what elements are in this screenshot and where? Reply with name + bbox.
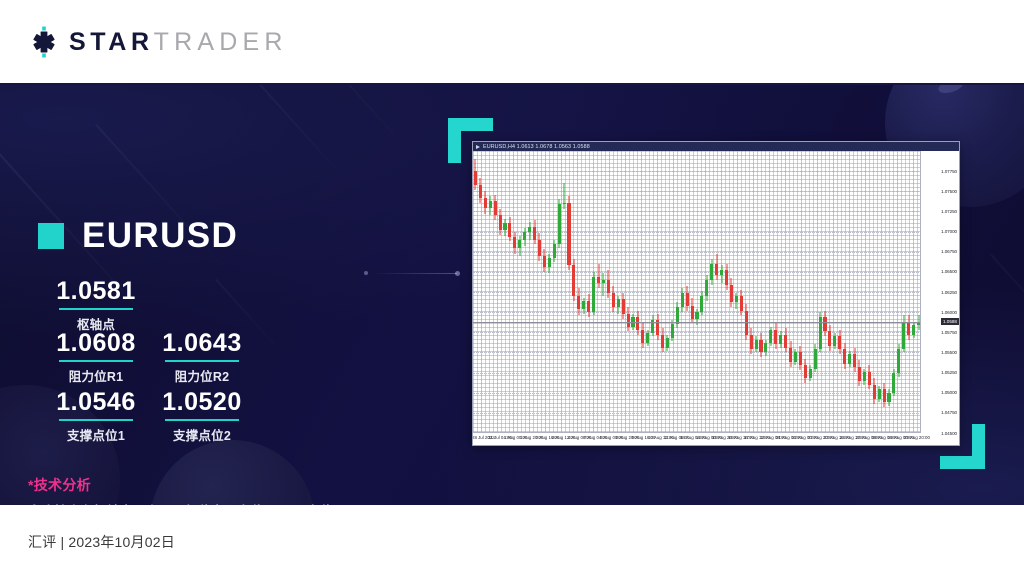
chart-plot-area[interactable] (473, 151, 921, 433)
candlestick-wick (603, 273, 604, 296)
candlestick (612, 151, 615, 433)
candlestick-body (799, 352, 802, 365)
candlestick (809, 151, 812, 433)
candlestick (636, 151, 639, 433)
decor-dot (364, 271, 368, 275)
candlestick-body (508, 223, 511, 238)
slide: STARTRADER EURUSD 1.0581 (0, 0, 1024, 576)
bracket-arm-vertical (448, 118, 461, 163)
candlestick-body (622, 299, 625, 314)
price-axis-tick: 1.07000 (941, 229, 957, 234)
price-axis-tick: 1.05750 (941, 330, 957, 335)
candlestick-body (863, 372, 866, 382)
candlestick-body (563, 203, 566, 205)
candlestick-body (887, 393, 890, 403)
candlestick (582, 151, 585, 433)
price-axis-tick: 1.05000 (941, 390, 957, 395)
candlestick-body (503, 223, 506, 230)
candlestick (740, 151, 743, 433)
candlestick-body (843, 349, 846, 364)
candlestick (759, 151, 762, 433)
candlestick-body (627, 314, 630, 327)
candlestick-body (764, 343, 767, 353)
stat-value: 1.0608 (36, 330, 156, 356)
candlestick (774, 151, 777, 433)
candlestick (750, 151, 753, 433)
candlestick-body (558, 204, 561, 243)
candlestick (804, 151, 807, 433)
candlestick (489, 151, 492, 433)
candlestick-body (784, 335, 787, 348)
candlestick (656, 151, 659, 433)
candlestick-body (533, 227, 536, 240)
candlestick-body (848, 354, 851, 364)
candlestick-body (671, 324, 674, 338)
candlestick (764, 151, 767, 433)
candlestick-body (686, 293, 689, 306)
candlestick-body (789, 348, 792, 363)
time-axis-tick: 29 Aug 20:00 (904, 435, 930, 440)
candlestick (863, 151, 866, 433)
candlestick (710, 151, 713, 433)
candlestick (607, 151, 610, 433)
candlestick-body (636, 317, 639, 330)
candlestick-body (750, 335, 753, 350)
candlestick-body (715, 264, 718, 275)
candlestick-body (878, 389, 881, 399)
candlestick (912, 151, 915, 433)
candlestick-body (494, 201, 497, 216)
stat-resistance-2: 1.0643 阻力位R2 (142, 330, 262, 385)
candlestick-body (582, 301, 585, 309)
candlestick (779, 151, 782, 433)
candlestick-body (794, 352, 797, 362)
candlestick (868, 151, 871, 433)
symbol-row: EURUSD (38, 218, 238, 253)
price-axis-tick: 1.04500 (941, 431, 957, 436)
page-title: EURUSD (82, 218, 238, 253)
candlestick-body (735, 296, 738, 302)
candlestick-body (691, 306, 694, 319)
price-axis[interactable]: 1.077501.075001.072501.070001.067501.065… (920, 151, 959, 433)
candlestick (853, 151, 856, 433)
candlestick-body (873, 385, 876, 400)
candlestick-body (700, 296, 703, 312)
candlestick-body (883, 389, 886, 402)
stat-support-2: 1.0520 支撑点位2 (142, 389, 262, 444)
candlestick-body (646, 333, 649, 343)
candlestick-body (592, 277, 595, 312)
candlestick (479, 151, 482, 433)
candlestick (799, 151, 802, 433)
candlestick-body (617, 299, 620, 307)
candlestick (548, 151, 551, 433)
decor-connector-line (372, 273, 457, 274)
candlestick-body (823, 317, 826, 332)
candlestick (715, 151, 718, 433)
candlestick (691, 151, 694, 433)
candlestick (695, 151, 698, 433)
candlestick (508, 151, 511, 433)
candlestick-body (602, 280, 605, 283)
chart-titlebar[interactable]: EURUSD,H4 1.0613 1.0678 1.0563 1.0588 (473, 142, 959, 151)
candlestick-body (479, 185, 482, 198)
candlestick (528, 151, 531, 433)
chart-symbol-label: EURUSD,H4 1.0613 1.0678 1.0563 1.0588 (483, 143, 590, 151)
candlestick (513, 151, 516, 433)
brand-wordmark: STARTRADER (69, 30, 288, 55)
stat-label: 阻力位R1 (36, 366, 156, 385)
candlestick (518, 151, 521, 433)
candlestick (823, 151, 826, 433)
candlestick (873, 151, 876, 433)
candlestick-body (666, 338, 669, 348)
current-price-label: 1.0588 (941, 318, 959, 325)
chart-body: 1.077501.075001.072501.070001.067501.065… (473, 151, 959, 445)
price-axis-tick: 1.05500 (941, 350, 957, 355)
candlestick-body (759, 340, 762, 353)
candlestick-body (489, 201, 492, 208)
candlestick-body (853, 354, 856, 367)
price-axis-tick: 1.06250 (941, 290, 957, 295)
candlestick (887, 151, 890, 433)
candlestick-body (774, 330, 777, 345)
candlestick (484, 151, 487, 433)
candlestick (681, 151, 684, 433)
candlestick-body (612, 293, 615, 308)
candlestick (602, 151, 605, 433)
candlestick-body (902, 322, 905, 349)
candlestick-body (710, 264, 713, 280)
price-axis-tick: 1.04750 (941, 410, 957, 415)
candlestick (858, 151, 861, 433)
candlestick (902, 151, 905, 433)
stat-underline (59, 360, 133, 362)
candlestick (592, 151, 595, 433)
candlestick-wick (564, 183, 565, 209)
candlestick-body (513, 237, 516, 248)
candlestick (563, 151, 566, 433)
candlestick-body (543, 256, 546, 267)
symbol-marker-icon (38, 223, 64, 249)
brand-logo: STARTRADER (28, 26, 288, 58)
mt4-chart-window[interactable]: EURUSD,H4 1.0613 1.0678 1.0563 1.0588 1.… (472, 141, 960, 446)
stat-support-1: 1.0546 支撑点位1 (36, 389, 156, 444)
candlestick (730, 151, 733, 433)
stat-underline (165, 360, 239, 362)
stat-value: 1.0643 (142, 330, 262, 356)
candlestick (553, 151, 556, 433)
candlestick (641, 151, 644, 433)
candlestick (745, 151, 748, 433)
candlestick-body (499, 215, 502, 230)
chevron-right-icon[interactable] (476, 145, 480, 149)
stat-label: 支撑点位1 (36, 425, 156, 444)
candlestick-body (828, 331, 831, 346)
candlestick (597, 151, 600, 433)
candlestick-body (720, 270, 723, 275)
candlestick (686, 151, 689, 433)
stat-pivot: 1.0581 枢轴点 (36, 278, 156, 333)
candlestick-body (661, 335, 664, 348)
candlestick (572, 151, 575, 433)
stat-value: 1.0546 (36, 389, 156, 415)
candlestick-body (518, 240, 521, 248)
candlestick-body (538, 240, 541, 256)
candlestick (883, 151, 886, 433)
price-axis-tick: 1.06000 (941, 310, 957, 315)
candlestick (720, 151, 723, 433)
candlestick-body (577, 296, 580, 309)
candlestick (661, 151, 664, 433)
candlestick (651, 151, 654, 433)
bracket-arm-vertical (972, 424, 985, 469)
footer-caption: 汇评 | 2023年10月02日 (28, 532, 175, 552)
candlestick-body (695, 312, 698, 318)
candlestick (843, 151, 846, 433)
candlestick (622, 151, 625, 433)
candlestick (700, 151, 703, 433)
candlestick-body (814, 349, 817, 368)
candlestick-body (907, 322, 910, 335)
candlestick-body (553, 244, 556, 259)
candlestick-series (473, 151, 921, 433)
candlestick-body (868, 372, 871, 385)
candlestick (735, 151, 738, 433)
candlestick (838, 151, 841, 433)
candlestick (671, 151, 674, 433)
candlestick-body (597, 277, 600, 283)
candlestick (666, 151, 669, 433)
candlestick (474, 151, 477, 433)
candlestick (819, 151, 822, 433)
candlestick-body (892, 373, 895, 392)
candlestick (784, 151, 787, 433)
candlestick-body (705, 280, 708, 296)
candlestick (705, 151, 708, 433)
stat-underline (165, 419, 239, 421)
candlestick (833, 151, 836, 433)
candlestick (533, 151, 536, 433)
price-axis-tick: 1.07250 (941, 209, 957, 214)
candlestick-body (725, 270, 728, 285)
candlestick (814, 151, 817, 433)
candlestick-body (912, 325, 915, 335)
stat-label: 支撑点位2 (142, 425, 262, 444)
candlestick (538, 151, 541, 433)
candlestick-body (587, 301, 590, 312)
candlestick (499, 151, 502, 433)
candlestick-body (838, 336, 841, 349)
candlestick-body (572, 265, 575, 296)
candlestick-body (548, 258, 551, 267)
candlestick (627, 151, 630, 433)
candlestick (577, 151, 580, 433)
candlestick (828, 151, 831, 433)
price-axis-tick: 1.07750 (941, 169, 957, 174)
candlestick (646, 151, 649, 433)
stat-label: 阻力位R2 (142, 366, 262, 385)
candlestick (558, 151, 561, 433)
header: STARTRADER (0, 0, 1024, 84)
candlestick (676, 151, 679, 433)
candlestick (503, 151, 506, 433)
price-axis-tick: 1.06500 (941, 269, 957, 274)
candlestick-body (804, 365, 807, 378)
stat-underline (59, 308, 133, 310)
candlestick-body (769, 330, 772, 343)
candlestick-body (779, 335, 782, 345)
candlestick (631, 151, 634, 433)
candlestick-body (567, 203, 570, 266)
hero-panel: EURUSD 1.0581 枢轴点 1.0608 阻力位R1 1.0643 阻力… (0, 85, 1024, 505)
candlestick (897, 151, 900, 433)
candlestick-body (681, 293, 684, 308)
candlestick (494, 151, 497, 433)
stat-underline (59, 419, 133, 421)
candlestick-body (730, 285, 733, 303)
candlestick (725, 151, 728, 433)
candlestick-body (740, 296, 743, 311)
candlestick (794, 151, 797, 433)
candlestick-body (809, 369, 812, 379)
candlestick-body (897, 349, 900, 373)
candlestick-body (607, 280, 610, 293)
stat-value: 1.0520 (142, 389, 262, 415)
stat-value: 1.0581 (36, 278, 156, 304)
candlestick (907, 151, 910, 433)
price-axis-tick: 1.07500 (941, 189, 957, 194)
brand-name-bold: STAR (69, 28, 154, 56)
candlestick (567, 151, 570, 433)
candlestick (878, 151, 881, 433)
candlestick (892, 151, 895, 433)
candlestick (769, 151, 772, 433)
candlestick (789, 151, 792, 433)
candlestick (617, 151, 620, 433)
candlestick (848, 151, 851, 433)
footer: 汇评 | 2023年10月02日 (0, 505, 1024, 576)
brand-name-light: TRADER (154, 28, 288, 56)
stat-resistance-1: 1.0608 阻力位R1 (36, 330, 156, 385)
candlestick (523, 151, 526, 433)
candlestick-body (523, 232, 526, 240)
price-axis-tick: 1.05250 (941, 370, 957, 375)
analysis-title: *技术分析 (28, 475, 398, 495)
candlestick-body (833, 336, 836, 346)
analysis-block: *技术分析 多头持仓在枢轴点以上，目标位为阻力位R1及阻力位R2。 若低于枢轴点… (28, 475, 398, 505)
candlestick (755, 151, 758, 433)
candlestick-body (641, 330, 644, 343)
candlestick-body (528, 227, 531, 233)
star-asterisk-icon (28, 26, 60, 58)
price-axis-tick: 1.06750 (941, 249, 957, 254)
candlestick-body (755, 340, 758, 350)
current-price-line (473, 322, 921, 323)
candlestick (543, 151, 546, 433)
candlestick-body (858, 367, 861, 382)
time-axis[interactable]: 28 Jul 202331 Jul 04:001 Aug 00:001 Aug … (473, 432, 921, 445)
candlestick-body (484, 198, 487, 208)
candlestick (587, 151, 590, 433)
candlestick-body (474, 171, 477, 185)
